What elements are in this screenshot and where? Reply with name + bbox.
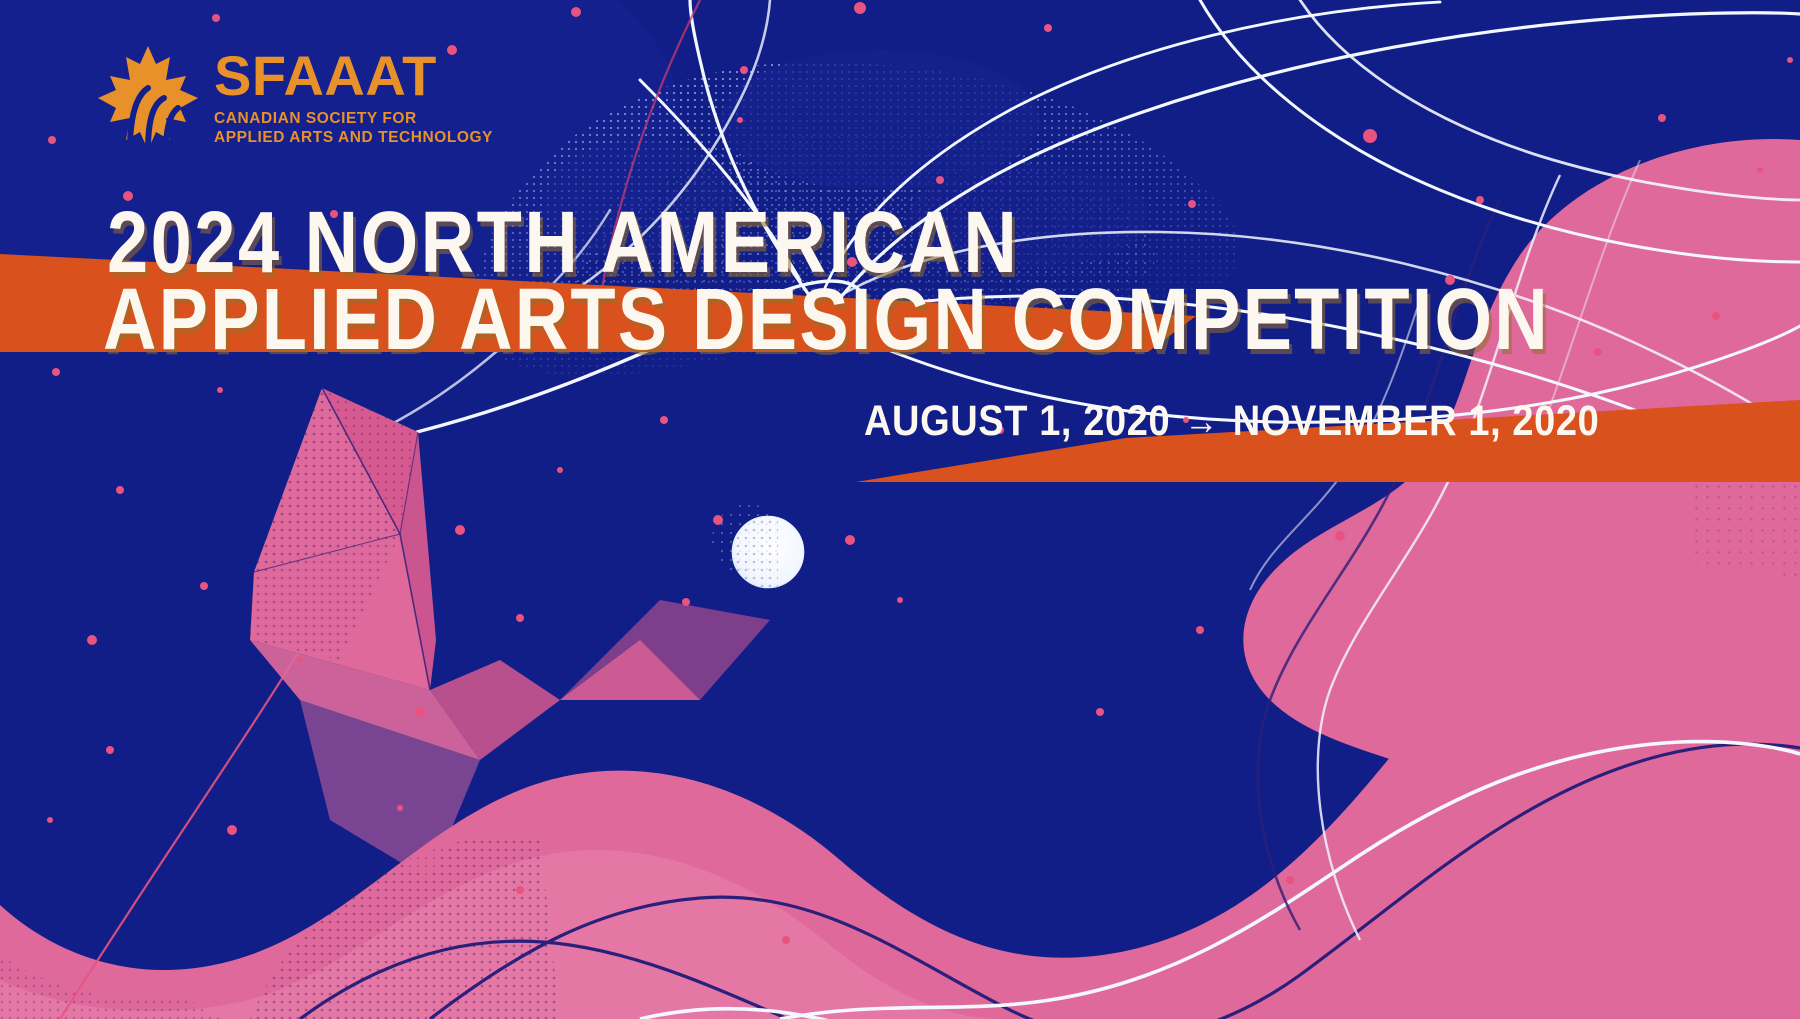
logo-subtitle-line1: CANADIAN SOCIETY FOR — [214, 109, 493, 129]
date-end: NOVEMBER 1, 2020 — [1233, 398, 1600, 446]
date-range: AUGUST 1, 2020 → NOVEMBER 1, 2020 — [864, 398, 1599, 446]
poster-canvas: SFAAAT CANADIAN SOCIETY FOR APPLIED ARTS… — [0, 0, 1800, 1019]
arrow-right-icon: → — [1184, 400, 1219, 444]
background-artwork — [0, 0, 1800, 1019]
date-start: AUGUST 1, 2020 — [864, 398, 1170, 446]
headline-line-2: APPLIED ARTS DESIGN COMPETITION — [103, 269, 1550, 369]
logo-acronym: SFAAAT — [214, 50, 493, 102]
logo-subtitle-line2: APPLIED ARTS AND TECHNOLOGY — [214, 128, 493, 148]
maple-leaf-icon — [96, 44, 200, 152]
logo[interactable]: SFAAAT CANADIAN SOCIETY FOR APPLIED ARTS… — [96, 38, 493, 152]
